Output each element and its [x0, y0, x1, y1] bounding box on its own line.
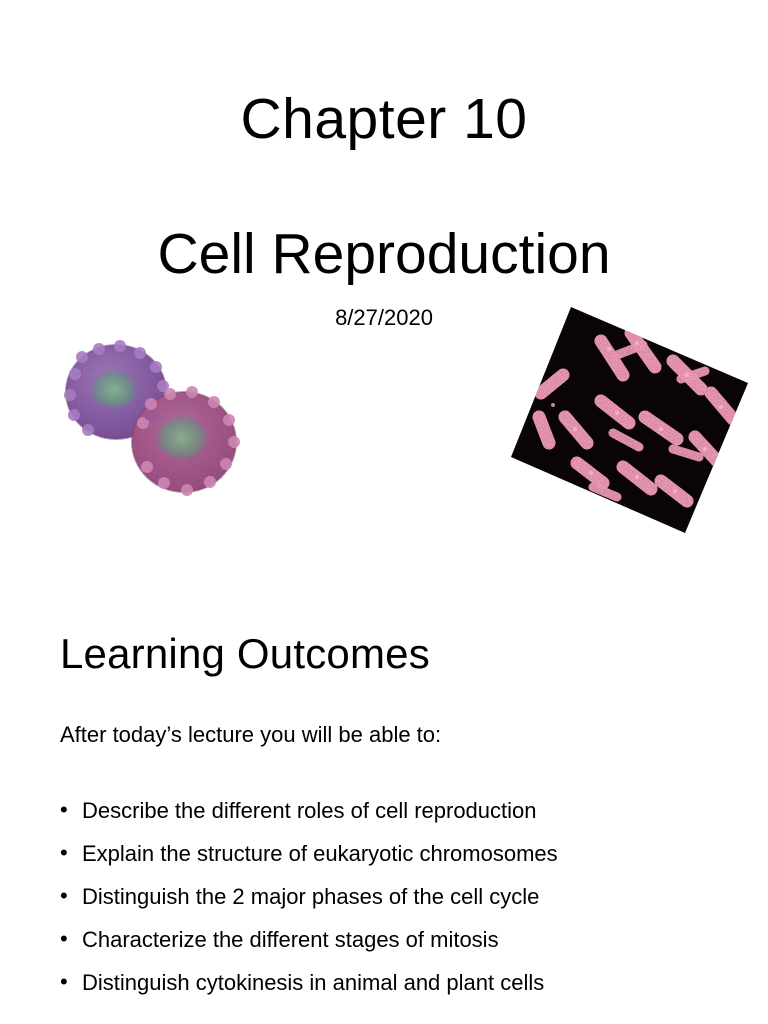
- list-item: Distinguish cytokinesis in animal and pl…: [60, 972, 740, 994]
- page-title: Chapter 10: [0, 90, 768, 150]
- learning-outcomes-heading: Learning Outcomes: [60, 630, 430, 678]
- list-item: Distinguish the 2 major phases of the ce…: [60, 886, 740, 908]
- list-item: Explain the structure of eukaryotic chro…: [60, 843, 740, 865]
- page-subtitle: Cell Reproduction: [0, 225, 768, 285]
- list-item: Describe the different roles of cell rep…: [60, 800, 740, 822]
- dividing-cells-image: [44, 330, 284, 510]
- learning-outcomes-list: Describe the different roles of cell rep…: [60, 800, 740, 1015]
- learning-outcomes-intro: After today’s lecture you will be able t…: [60, 722, 441, 748]
- chromosomes-image: [505, 297, 755, 542]
- learning-outcomes-slide: Learning Outcomes After today’s lecture …: [0, 560, 768, 1024]
- title-slide: Chapter 10 Cell Reproduction 8/27/2020: [0, 0, 768, 560]
- list-item: Characterize the different stages of mit…: [60, 929, 740, 951]
